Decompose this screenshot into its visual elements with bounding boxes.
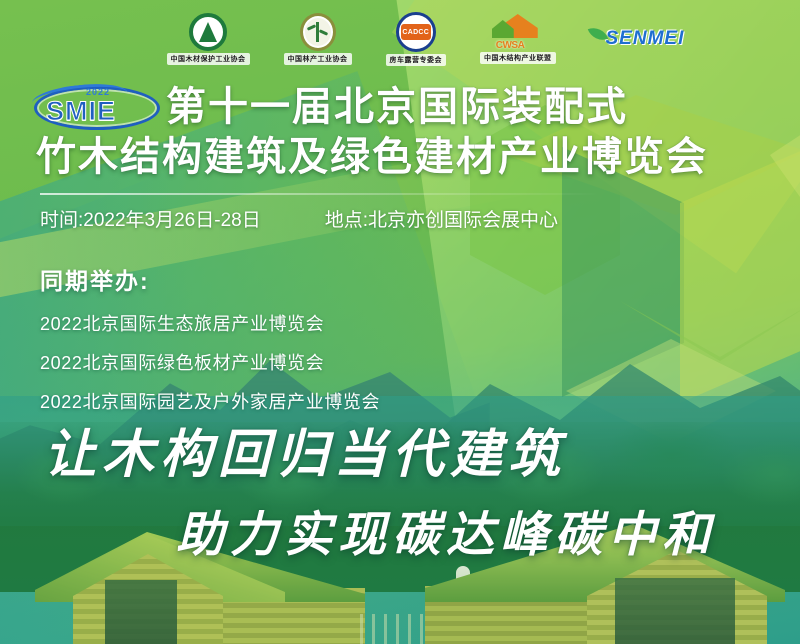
sponsor-logo-china-wood-protection: 中国木材保护工业协会 [167, 13, 250, 65]
sponsor-logo-strip: 中国木材保护工业协会 中国林产工业协会 CADCC 房车露营专委会 CWSA 中… [0, 0, 800, 78]
evergreen-tree-roundel-icon [189, 13, 227, 51]
list-item: 2022北京国际生态旅居产业博览会 [40, 310, 380, 336]
leaf-wordmark-icon: SENMEI [590, 24, 694, 54]
sponsor-logo-caption: 房车露营专委会 [386, 54, 447, 66]
page-title-line-2: 竹木结构建筑及绿色建材产业博览会 [36, 134, 800, 181]
title-divider [40, 193, 600, 195]
slogan-block: 让木构回归当代建筑 助力实现碳达峰碳中和 [0, 412, 800, 565]
sponsor-logo-senmei: SENMEI [590, 24, 694, 54]
slogan-line-2: 助力实现碳达峰碳中和 [176, 495, 800, 565]
slogan-line-1: 让木构回归当代建筑 [44, 412, 800, 487]
concurrent-events-heading: 同期举办: [40, 262, 380, 296]
concurrent-events-list: 2022北京国际生态旅居产业博览会 2022北京国际绿色板材产业博览会 2022… [40, 310, 380, 414]
senmei-wordmark: SENMEI [606, 28, 685, 50]
bamboo-roundel-icon [300, 13, 336, 51]
event-date: 时间:2022年3月26日-28日 [40, 205, 261, 232]
sponsor-logo-cadcc: CADCC 房车露营专委会 [386, 12, 447, 66]
headline-block: 2022 SMIE 第十一届北京国际装配式 竹木结构建筑及绿色建材产业博览会 时… [0, 84, 800, 232]
sponsor-logo-caption: 中国木材保护工业协会 [167, 53, 250, 65]
title-line-1-row: 2022 SMIE 第十一届北京国际装配式 [34, 84, 800, 132]
cwsa-badge-text: CWSA [496, 40, 525, 51]
event-meta: 时间:2022年3月26日-28日 地点:北京亦创国际会展中心 [40, 205, 800, 232]
smie-logo-wordmark: SMIE [46, 96, 116, 127]
concurrent-events-block: 同期举办: 2022北京国际生态旅居产业博览会 2022北京国际绿色板材产业博览… [40, 262, 380, 414]
list-item: 2022北京国际园艺及户外家居产业博览会 [40, 388, 380, 414]
sponsor-logo-caption: 中国木结构产业联盟 [480, 52, 556, 64]
sponsor-logo-caption: 中国林产工业协会 [284, 53, 352, 65]
event-venue: 地点:北京亦创国际会展中心 [325, 205, 558, 232]
page-title-line-1: 第十一届北京国际装配式 [166, 84, 628, 131]
cadcc-seal-icon: CADCC [396, 12, 436, 52]
exhibition-poster: 中国木材保护工业协会 中国林产工业协会 CADCC 房车露营专委会 CWSA 中… [0, 0, 800, 644]
cadcc-badge-text: CADCC [401, 24, 431, 40]
list-item: 2022北京国际绿色板材产业博览会 [40, 349, 380, 375]
sponsor-logo-cwsa: CWSA 中国木结构产业联盟 [480, 14, 556, 64]
house-roof-icon: CWSA [492, 14, 544, 50]
smie-logo: 2022 SMIE [34, 84, 160, 132]
sponsor-logo-bamboo-association: 中国林产工业协会 [284, 13, 352, 65]
